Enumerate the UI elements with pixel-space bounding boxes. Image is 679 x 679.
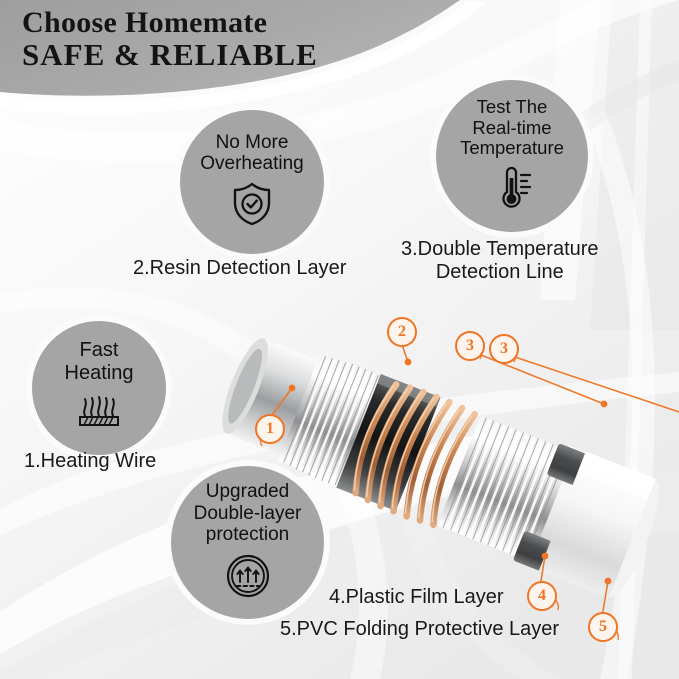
layer-label-4: 4.Plastic Film Layer [329, 586, 504, 609]
title-line-1: Choose Homemate [22, 8, 318, 39]
layer-label-3: 3.Double Temperature Detection Line [401, 238, 599, 283]
marker-4-number: 4 [527, 581, 557, 611]
marker-3b-number: 3 [489, 334, 519, 364]
layer-label-1: 1.Heating Wire [24, 450, 156, 473]
marker-3a[interactable]: 3 [455, 331, 485, 361]
layer-label-5: 5.PVC Folding Protective Layer [280, 618, 559, 641]
marker-5[interactable]: 5 [588, 612, 618, 642]
marker-1[interactable]: 1 [255, 414, 285, 444]
callout-leader-lines [0, 0, 679, 679]
title-line-2: SAFE & RELIABLE [22, 39, 318, 71]
marker-1-number: 1 [255, 414, 285, 444]
marker-5-number: 5 [588, 612, 618, 642]
marker-3a-number: 3 [455, 331, 485, 361]
layer-label-2: 2.Resin Detection Layer [133, 257, 346, 280]
marker-4[interactable]: 4 [527, 581, 557, 611]
marker-2-number: 2 [387, 317, 417, 347]
marker-3b[interactable]: 3 [489, 334, 519, 364]
infographic-canvas: Choose Homemate SAFE & RELIABLE [0, 0, 679, 679]
page-title: Choose Homemate SAFE & RELIABLE [22, 8, 318, 70]
marker-2[interactable]: 2 [387, 317, 417, 347]
